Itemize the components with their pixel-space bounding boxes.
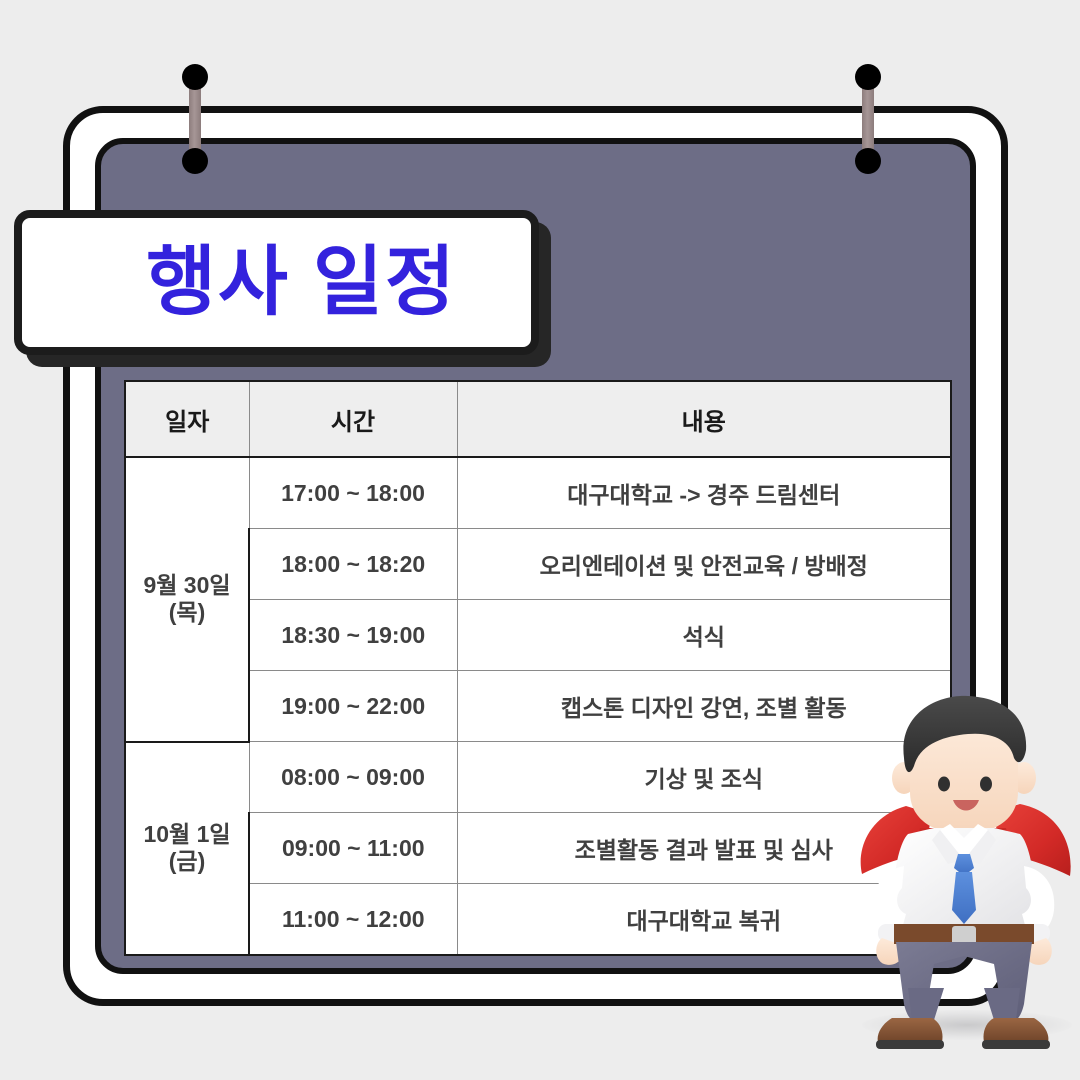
time-cell: 18:30 ~ 19:00 [249,600,457,671]
weekday-label: (금) [126,848,248,875]
time-cell: 09:00 ~ 11:00 [249,813,457,884]
hanger-cap-top-icon [182,64,208,90]
time-cell: 19:00 ~ 22:00 [249,671,457,742]
schedule-table: 일자 시간 내용 9월 30일 (목) 17:00 ~ 18:00 대구대학교 … [124,380,952,956]
content-cell: 석식 [457,600,951,671]
weekday-label: (목) [126,599,248,626]
shoe-left-icon [878,1018,943,1042]
column-header-time: 시간 [249,381,457,457]
date-label: 10월 1일 [126,821,248,848]
table-row: 11:00 ~ 12:00 대구대학교 복귀 [125,884,951,956]
table-row: 19:00 ~ 22:00 캡스톤 디자인 강연, 조별 활동 [125,671,951,742]
time-cell: 08:00 ~ 09:00 [249,742,457,813]
date-group-cell: 9월 30일 (목) [125,457,249,742]
shirt [894,824,1034,926]
page-title: 행사 일정 [96,245,457,321]
time-cell: 17:00 ~ 18:00 [249,457,457,529]
date-group-cell: 10월 1일 (금) [125,742,249,956]
column-header-content: 내용 [457,381,951,457]
eye-right-icon [980,777,992,792]
superhero-businessman-mascot [848,688,1080,1060]
table-row: 9월 30일 (목) 17:00 ~ 18:00 대구대학교 -> 경주 드림센… [125,457,951,529]
legs [896,942,1032,1023]
poster-canvas: 행사 일정 일자 시간 내용 9월 30일 (목) 17:00 ~ 18:00 [0,0,1080,1080]
table-row: 18:00 ~ 18:20 오리엔테이션 및 안전교육 / 방배정 [125,529,951,600]
hanger-cap-bottom-icon [855,148,881,174]
table-row: 10월 1일 (금) 08:00 ~ 09:00 기상 및 조식 [125,742,951,813]
content-cell: 오리엔테이션 및 안전교육 / 방배정 [457,529,951,600]
time-cell: 18:00 ~ 18:20 [249,529,457,600]
right-hanger-clip [858,64,876,174]
shoes [876,1018,1050,1049]
title-banner-plate: 행사 일정 [14,210,539,355]
hanger-cap-top-icon [855,64,881,90]
title-banner: 행사 일정 [14,210,539,355]
table-row: 18:30 ~ 19:00 석식 [125,600,951,671]
table-header-row: 일자 시간 내용 [125,381,951,457]
time-cell: 11:00 ~ 12:00 [249,884,457,956]
head [903,696,1026,834]
eye-left-icon [938,777,950,792]
content-cell: 대구대학교 -> 경주 드림센터 [457,457,951,529]
shoe-right-icon [983,1018,1048,1042]
table-row: 09:00 ~ 11:00 조별활동 결과 발표 및 심사 [125,813,951,884]
left-hanger-clip [185,64,203,174]
date-label: 9월 30일 [126,572,248,599]
hanger-cap-bottom-icon [182,148,208,174]
column-header-date: 일자 [125,381,249,457]
